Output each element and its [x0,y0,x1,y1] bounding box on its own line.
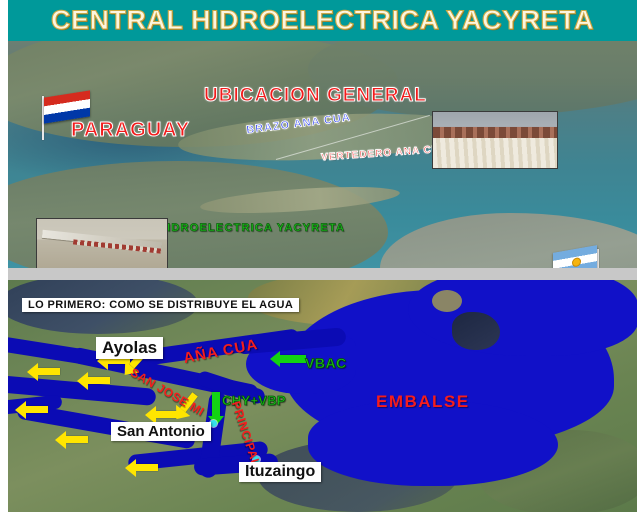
spillway-gates [433,127,557,138]
powerhouse-photo-inset [36,218,168,268]
top-heading-label: UBICACION GENERAL [204,85,427,107]
vbac-label: VBAC [305,355,347,371]
page-title: CENTRAL HIDROELECTRICA YACYRETA [8,0,637,41]
map-caption: LO PRIMERO: COMO SE DISTRIBUYE EL AGUA [22,298,299,312]
bottom-distribution-map: LO PRIMERO: COMO SE DISTRIBUYE EL AGUA A… [8,280,637,512]
top-satellite-map: UBICACION GENERAL PARAGUAY BRAZO ANA CUA… [8,41,637,268]
embalse-island-2 [432,290,462,312]
title-banner: CENTRAL HIDROELECTRICA YACYRETA [8,0,637,41]
embalse-reservoir-south-lobe [308,400,558,486]
site-dot-san-antonio [210,420,217,427]
embalse-label: EMBALSE [376,392,470,412]
flag-pole [597,249,599,268]
sun-of-may-icon [572,257,581,268]
panel-separator [8,268,637,280]
embalse-island [452,312,500,350]
ituzaingo-label: Ituzaingo [239,462,321,482]
slide-root: CENTRAL HIDROELECTRICA YACYRETA UBICACIO… [0,0,637,526]
ayolas-label: Ayolas [96,337,163,359]
san-antonio-label: San Antonio [111,422,211,441]
paraguay-label: PARAGUAY [71,119,190,142]
spillway-photo-inset [432,111,558,169]
spillway-discharge-water [433,138,557,168]
